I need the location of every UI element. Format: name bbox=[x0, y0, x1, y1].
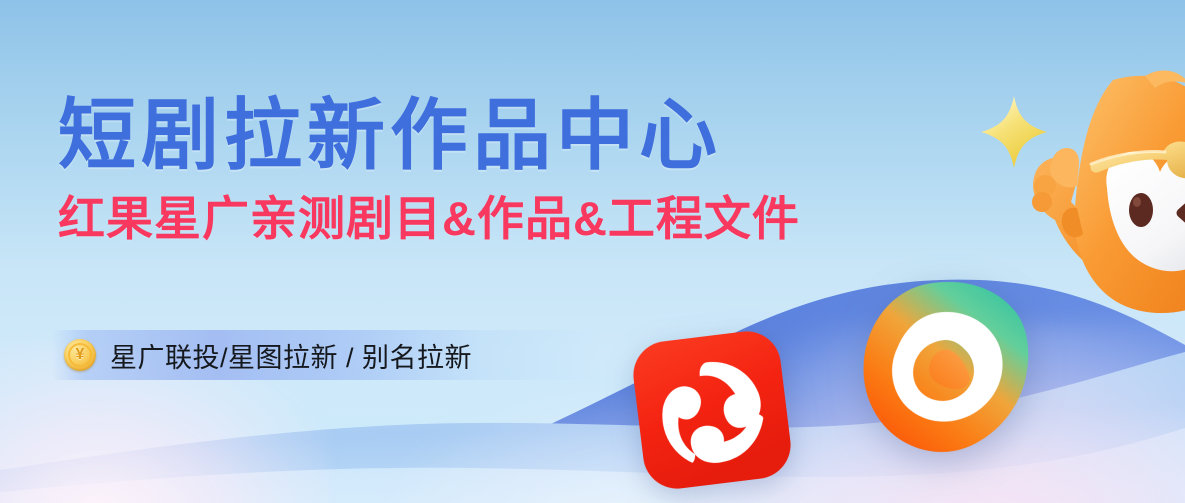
tag-label: 星广联投/星图拉新 / 别名拉新 bbox=[110, 336, 472, 375]
page-subtitle: 红果星广亲测剧目&作品&工程文件 bbox=[58, 194, 818, 243]
promo-banner: 短剧拉新作品中心 红果星广亲测剧目&作品&工程文件 ¥ 星广联投/星图拉新 / … bbox=[0, 0, 1185, 503]
hongguo-app-icon[interactable] bbox=[630, 328, 795, 493]
headline-block: 短剧拉新作品中心 红果星广亲测剧目&作品&工程文件 bbox=[58, 96, 818, 243]
page-title: 短剧拉新作品中心 bbox=[58, 96, 818, 176]
tag-bar: ¥ 星广联投/星图拉新 / 别名拉新 bbox=[52, 330, 600, 380]
mascot-character bbox=[995, 70, 1185, 330]
coin-currency-symbol: ¥ bbox=[76, 347, 85, 363]
coin-icon: ¥ bbox=[64, 339, 96, 371]
